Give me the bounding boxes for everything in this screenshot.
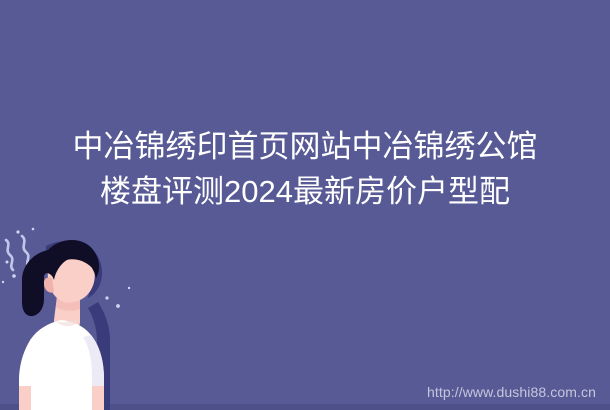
squiggle-decoration-icon — [6, 236, 29, 270]
promo-banner: 中冶锦绣印首页网站中冶锦绣公馆 楼盘评测2024最新房价户型配 — [0, 0, 610, 410]
left-arm-shape — [19, 386, 31, 410]
headline-line-1: 中冶锦绣印首页网站中冶锦绣公馆 — [0, 124, 610, 169]
right-arm-shape — [92, 386, 104, 410]
shirt-shape — [19, 320, 104, 410]
source-url-watermark: http://www.dushi88.com.cn — [427, 384, 596, 400]
headline-line-2: 楼盘评测2024最新房价户型配 — [0, 169, 610, 214]
person-illustration — [0, 210, 150, 410]
banner-headline: 中冶锦绣印首页网站中冶锦绣公馆 楼盘评测2024最新房价户型配 — [0, 124, 610, 214]
